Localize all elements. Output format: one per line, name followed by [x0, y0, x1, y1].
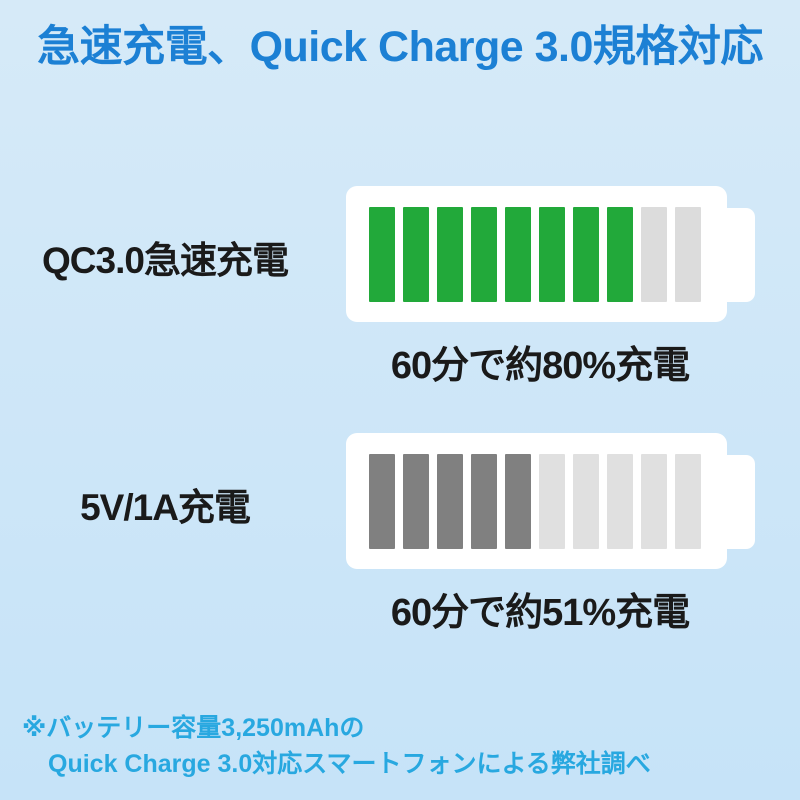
- comparison-label-qc30: QC3.0急速充電: [0, 230, 330, 284]
- battery-segment-2: [403, 454, 429, 549]
- battery-segment-4: [471, 454, 497, 549]
- footnote-line-1: ※バッテリー容量3,250mAhの: [22, 710, 782, 746]
- battery-segment-group-5v1a: [369, 454, 705, 549]
- battery-segment-1: [369, 454, 395, 549]
- comparison-caption-qc30: 60分で約80%充電: [330, 334, 750, 389]
- battery-segment-7: [573, 454, 599, 549]
- battery-segment-5: [505, 454, 531, 549]
- battery-segment-5: [505, 207, 531, 302]
- battery-segment-3: [437, 454, 463, 549]
- battery-segment-10: [675, 454, 701, 549]
- page-title: 急速充電、Quick Charge 3.0規格対応: [0, 22, 800, 74]
- battery-segment-6: [539, 454, 565, 549]
- battery-indicator-5v1a: [346, 433, 727, 569]
- battery-segment-9: [641, 207, 667, 302]
- battery-segment-1: [369, 207, 395, 302]
- battery-segment-4: [471, 207, 497, 302]
- battery-indicator-qc30: [346, 186, 727, 322]
- promo-graphic-root: 急速充電、Quick Charge 3.0規格対応 QC3.0急速充電 60分で…: [0, 0, 800, 800]
- battery-segment-group-qc30: [369, 207, 705, 302]
- footnote: ※バッテリー容量3,250mAhの Quick Charge 3.0対応スマート…: [22, 710, 782, 782]
- battery-segment-3: [437, 207, 463, 302]
- battery-segment-9: [641, 454, 667, 549]
- battery-segment-6: [539, 207, 565, 302]
- battery-segment-10: [675, 207, 701, 302]
- battery-segment-8: [607, 454, 633, 549]
- footnote-line-2: Quick Charge 3.0対応スマートフォンによる弊社調べ: [22, 746, 782, 782]
- comparison-caption-5v1a: 60分で約51%充電: [330, 581, 750, 636]
- battery-segment-8: [607, 207, 633, 302]
- battery-terminal-nub: [721, 455, 755, 549]
- battery-segment-2: [403, 207, 429, 302]
- battery-segment-7: [573, 207, 599, 302]
- comparison-label-5v1a: 5V/1A充電: [0, 477, 330, 531]
- battery-terminal-nub: [721, 208, 755, 302]
